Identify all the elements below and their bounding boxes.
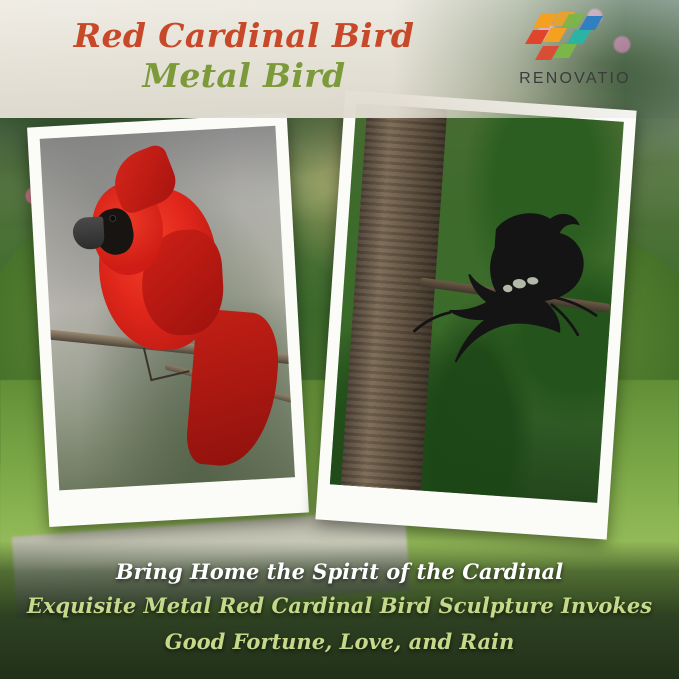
product-image: Red Cardinal Bird Metal Bird RENOVATIO [0,0,679,679]
caption-line-3: Good Fortune, Love, and Rain [0,627,679,656]
title-line-1: Red Cardinal Bird [34,16,454,56]
photo-card-metal-cardinal [315,90,636,539]
metal-cardinal-silhouette-icon [405,161,610,426]
caption-line-2: Exquisite Metal Red Cardinal Bird Sculpt… [0,591,679,620]
photo-metal-cardinal [330,103,624,503]
renovatio-diamond-icon [489,12,661,68]
photo-card-real-cardinal [27,113,309,527]
title-line-2: Metal Bird [34,56,454,96]
caption-line-1: Bring Home the Spirit of the Cardinal [0,559,679,584]
brand-logo: RENOVATIO [489,12,661,108]
brand-name: RENOVATIO [489,70,661,88]
page-title: Red Cardinal Bird Metal Bird [34,16,454,96]
photo-real-cardinal [40,126,295,491]
caption-block: Bring Home the Spirit of the Cardinal Ex… [0,541,679,679]
